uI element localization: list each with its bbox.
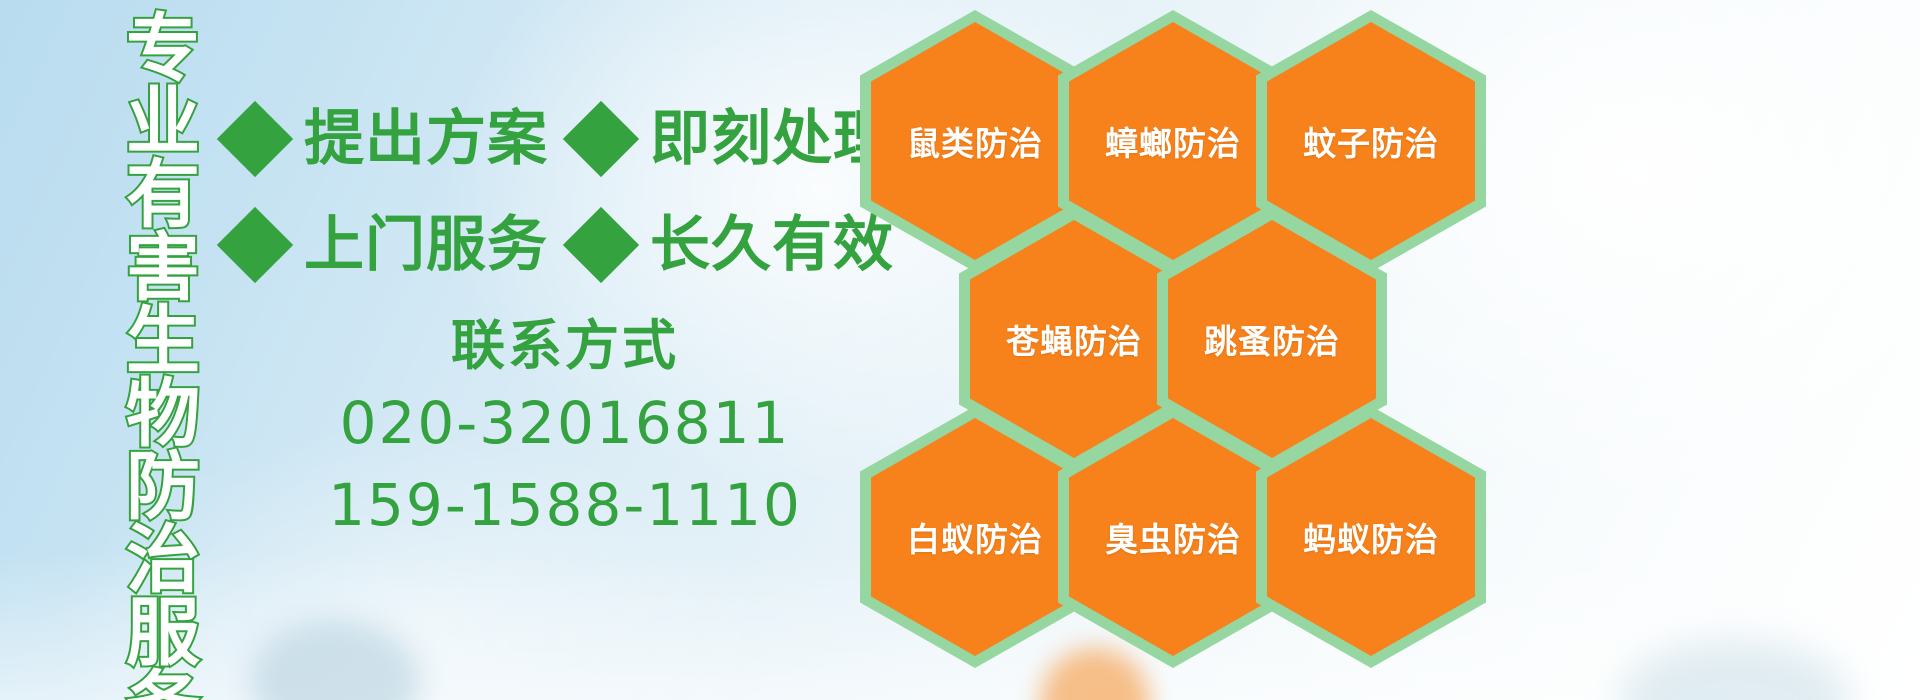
diamond-icon <box>563 207 639 283</box>
service-hex-label: 蚊子防治 <box>1303 117 1439 165</box>
vertical-headline-char: 物 <box>126 377 200 450</box>
diamond-icon <box>563 101 639 177</box>
background-blur-blob-left <box>250 620 420 700</box>
vertical-headline-char: 害 <box>126 231 200 304</box>
feature-list: 提出方案 即刻处理 上门服务 长久有效 <box>228 86 868 298</box>
vertical-headline: 专 业 有 害 生 物 防 治 服 务 <box>108 12 218 672</box>
service-hex-label: 臭虫防治 <box>1105 513 1241 561</box>
contact-phone-mobile[interactable]: 159-1588-1110 <box>300 464 830 546</box>
service-hex-label: 鼠类防治 <box>907 117 1043 165</box>
service-hex-label: 跳蚤防治 <box>1204 315 1340 363</box>
diamond-icon <box>217 101 293 177</box>
background-blur-blob-right <box>1620 640 1850 700</box>
service-hex-label: 蚂蚁防治 <box>1303 513 1439 561</box>
feature-label: 即刻处理 <box>650 109 894 169</box>
feature-row: 上门服务 长久有效 <box>228 192 868 298</box>
vertical-headline-char: 治 <box>126 523 200 596</box>
vertical-headline-char: 务 <box>126 669 200 700</box>
vertical-headline-char: 专 <box>126 12 200 85</box>
feature-label: 上门服务 <box>304 215 548 275</box>
vertical-headline-char: 服 <box>126 596 200 669</box>
diamond-icon <box>217 207 293 283</box>
vertical-headline-char: 生 <box>126 304 200 377</box>
vertical-headline-char: 防 <box>126 450 200 523</box>
feature-label: 提出方案 <box>304 109 548 169</box>
vertical-headline-char: 业 <box>126 85 200 158</box>
feature-label: 长久有效 <box>650 215 894 275</box>
contact-title: 联系方式 <box>300 310 830 382</box>
service-hex-label: 蟑螂防治 <box>1105 117 1241 165</box>
service-hex-label: 白蚁防治 <box>907 513 1043 561</box>
contact-phone-landline[interactable]: 020-32016811 <box>300 382 830 464</box>
service-honeycomb: 鼠类防治 蟑螂防治 蚊子防治 苍蝇防治 跳蚤防治 白蚁防治 臭虫防治 <box>860 0 1460 700</box>
contact-block: 联系方式 020-32016811 159-1588-1110 <box>300 310 830 546</box>
feature-row: 提出方案 即刻处理 <box>228 86 868 192</box>
promo-banner: 专 业 有 害 生 物 防 治 服 务 提出方案 即刻处理 上门服务 长久有效 … <box>0 0 1920 700</box>
service-hex-label: 苍蝇防治 <box>1006 315 1142 363</box>
vertical-headline-char: 有 <box>126 158 200 231</box>
